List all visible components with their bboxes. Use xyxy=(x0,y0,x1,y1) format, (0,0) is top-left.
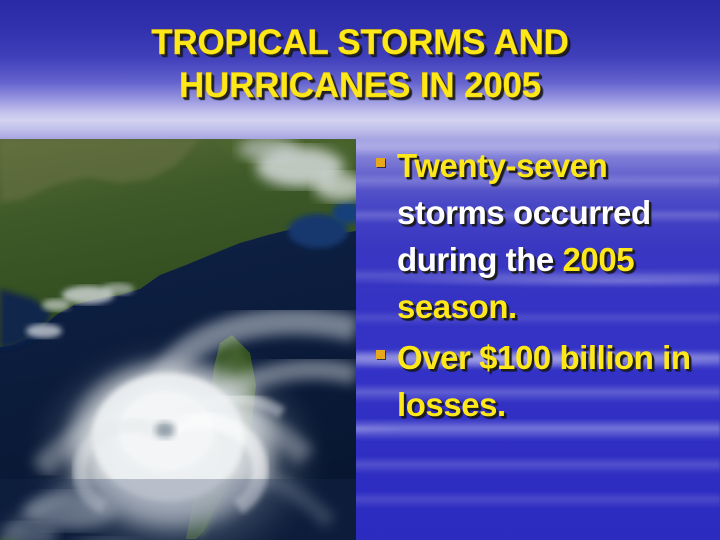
square-bullet-icon xyxy=(376,350,385,359)
square-bullet-icon xyxy=(376,158,385,167)
bullet-item-2: Over $100 billion in losses. xyxy=(370,334,720,428)
hurricane-satellite-image xyxy=(0,139,356,540)
bullet-item-1: Twenty-seven storms occurred during the … xyxy=(370,142,720,330)
slide-canvas: TROPICAL STORMS AND HURRICANES IN 2005 xyxy=(0,0,720,540)
bullet-1-segment-1: Twenty-seven xyxy=(397,147,607,184)
slide-title: TROPICAL STORMS AND HURRICANES IN 2005 xyxy=(36,21,684,107)
satellite-image-graphic xyxy=(0,139,356,540)
bullet-list: Twenty-seven storms occurred during the … xyxy=(370,142,720,432)
bullet-2-segment-1: Over $100 billion in losses. xyxy=(397,339,691,423)
